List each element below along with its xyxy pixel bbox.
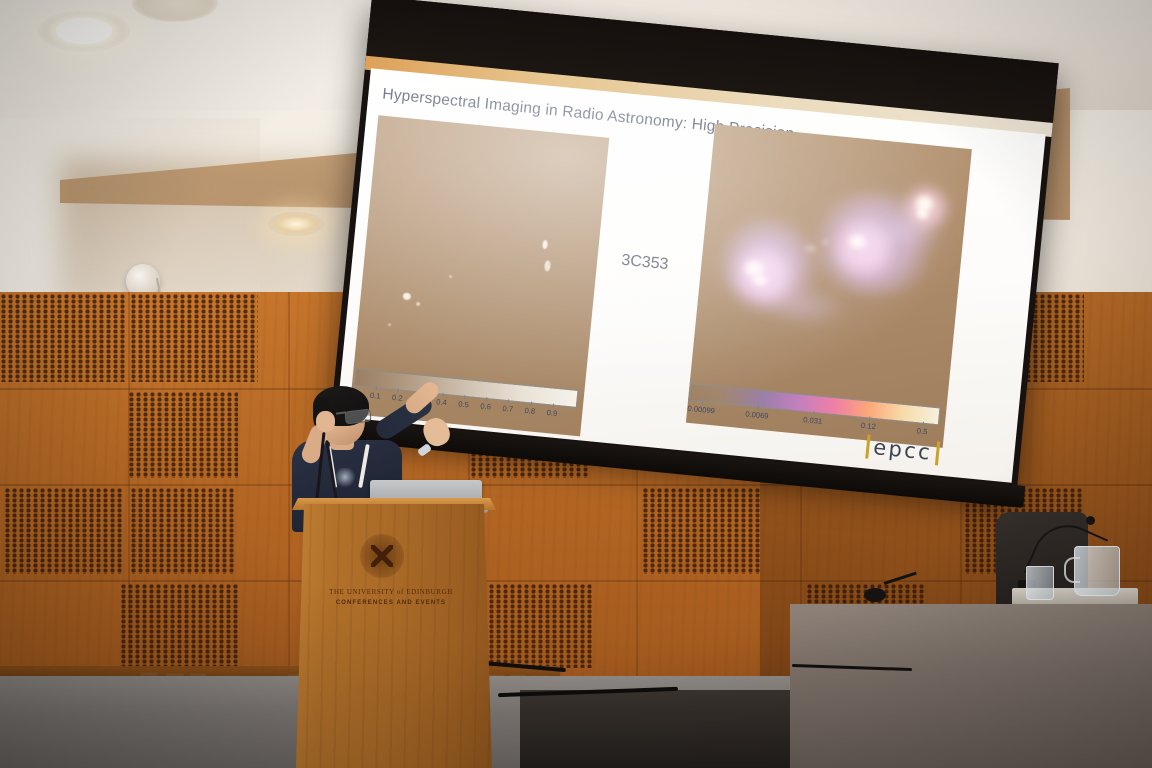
water-glass bbox=[1026, 566, 1054, 600]
epcc-logo-text: epcc bbox=[872, 435, 933, 465]
microphone-head bbox=[1086, 516, 1095, 525]
lectern-subtitle-text: CONFERENCES AND EVENTS bbox=[318, 600, 464, 606]
table-microphone bbox=[864, 588, 886, 602]
table bbox=[790, 604, 1152, 768]
lectern-university-text: THE UNIVERSITY of EDINBURGH bbox=[318, 588, 464, 596]
epcc-bar-right bbox=[935, 441, 940, 465]
soffit-downlight-icon bbox=[268, 212, 324, 236]
speaker-shirt-graphic bbox=[336, 468, 356, 488]
lecture-room-photo: Hyperspectral Imaging in Radio Astronomy… bbox=[0, 0, 1152, 768]
object-label: 3C353 bbox=[620, 252, 669, 275]
university-crest-icon bbox=[360, 534, 404, 578]
speaker-left-hand bbox=[316, 411, 335, 432]
ceiling-downlight-icon bbox=[38, 10, 130, 52]
water-jug bbox=[1074, 546, 1120, 596]
